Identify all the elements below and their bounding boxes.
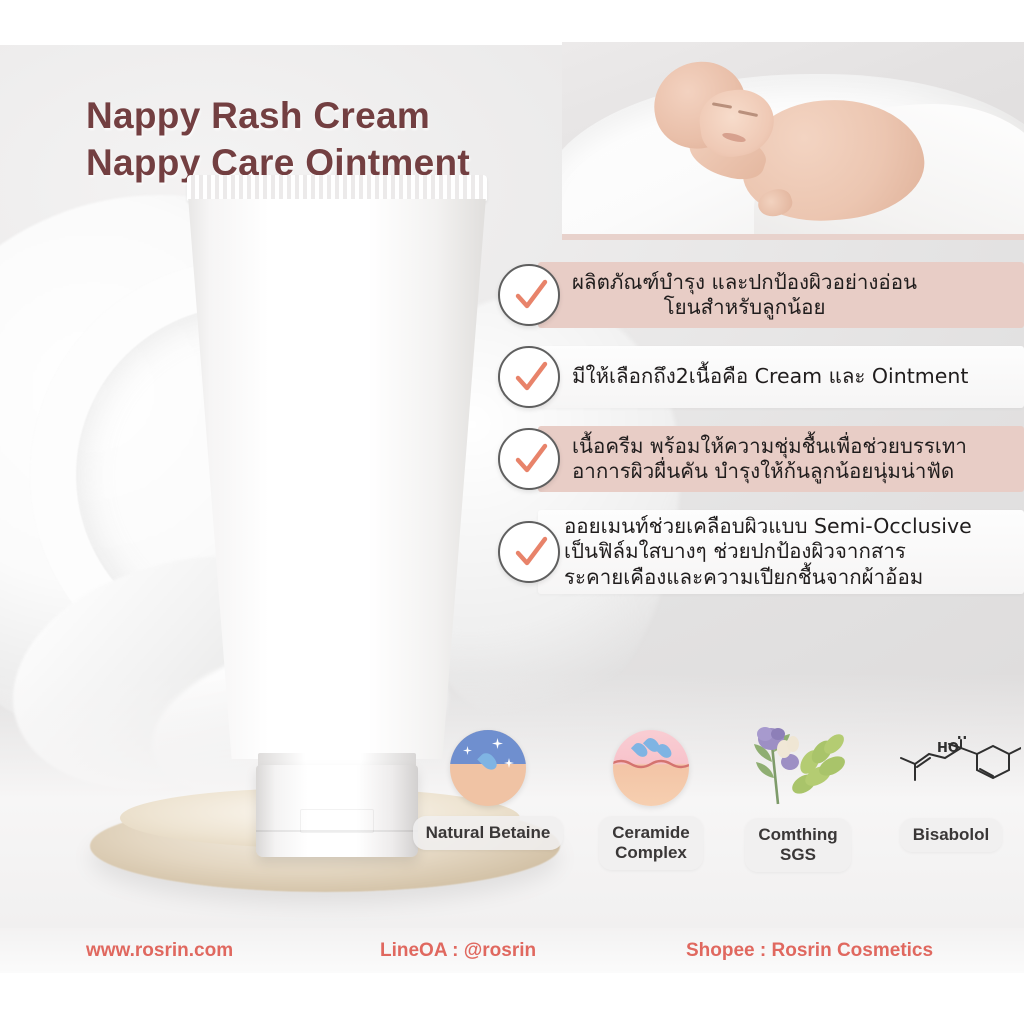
- feature-text: ออยเมนท์ช่วยเคลือบผิวแบบ Semi-Occlusive …: [564, 514, 972, 590]
- botanical-flower-leaf-icon: [738, 722, 858, 808]
- ingredient-label: Natural Betaine: [413, 816, 564, 850]
- shopee-store[interactable]: Shopee : Rosrin Cosmetics: [686, 940, 933, 962]
- feature-line: โยนสำหรับลูกน้อย: [572, 295, 917, 320]
- ceramide-droplets-icon: [613, 730, 689, 806]
- ingredient-item: Ceramide Complex: [576, 730, 726, 870]
- tube-cap-seam: [256, 830, 418, 832]
- ingredient-item: Natural Betaine: [400, 730, 576, 850]
- product-infographic: Nappy Rash Cream Nappy Care Ointment: [0, 0, 1024, 1024]
- ingredient-label: Ceramide Complex: [599, 816, 702, 870]
- check-icon: [498, 264, 560, 326]
- svg-text:HO: HO: [937, 741, 959, 756]
- baby-photo: [562, 42, 1024, 240]
- feature-line: ผลิตภัณฑ์บำรุง และปกป้องผิวอย่างอ่อน: [572, 270, 917, 295]
- feature-text: มีให้เลือกถึง2เนื้อคือ Cream และ Ointmen…: [572, 364, 968, 389]
- chemical-structure-icon: HO H: [881, 736, 1021, 808]
- feature-item: มีให้เลือกถึง2เนื้อคือ Cream และ Ointmen…: [498, 346, 1024, 408]
- feature-line: ระคายเคืองและความเปียกชื้นจากผ้าอ้อม: [564, 565, 972, 590]
- website-link[interactable]: www.rosrin.com: [86, 940, 233, 962]
- svg-text:H: H: [957, 736, 967, 742]
- footer-contact-bar: www.rosrin.com LineOA : @rosrin Shopee :…: [0, 928, 1024, 973]
- feature-item: ผลิตภัณฑ์บำรุง และปกป้องผิวอย่างอ่อน โยน…: [498, 262, 1024, 328]
- feature-list: ผลิตภัณฑ์บำรุง และปกป้องผิวอย่างอ่อน โยน…: [498, 262, 1024, 612]
- check-icon: [498, 521, 560, 583]
- ingredient-list: Natural Betaine Ceramide Complex: [400, 722, 1024, 897]
- feature-item: ออยเมนท์ช่วยเคลือบผิวแบบ Semi-Occlusive …: [498, 510, 1024, 594]
- tube-body: [182, 199, 492, 759]
- tube-crimp-seal: [187, 175, 487, 201]
- feature-line: ออยเมนท์ช่วยเคลือบผิวแบบ Semi-Occlusive: [564, 514, 972, 539]
- ingredient-label: Comthing SGS: [745, 818, 850, 872]
- feature-line: เป็นฟิล์มใสบางๆ ช่วยปกป้องผิวจากสาร: [564, 539, 972, 564]
- feature-text: ผลิตภัณฑ์บำรุง และปกป้องผิวอย่างอ่อน โยน…: [572, 270, 917, 321]
- feature-line: มีให้เลือกถึง2เนื้อคือ Cream และ Ointmen…: [572, 364, 968, 389]
- feature-line: อาการผิวผื่นคัน บำรุงให้ก้นลูกน้อยนุ่มน่…: [572, 459, 967, 484]
- ingredient-label: Bisabolol: [900, 818, 1003, 852]
- check-icon: [498, 428, 560, 490]
- ingredient-item: HO H Bisabolol: [878, 736, 1024, 852]
- skin-hydration-droplet-icon: [450, 730, 526, 806]
- ingredient-item: Comthing SGS: [718, 722, 878, 872]
- title-line-1: Nappy Rash Cream: [86, 92, 606, 139]
- tube-cap: [256, 765, 418, 857]
- check-icon: [498, 346, 560, 408]
- feature-item: เนื้อครีม พร้อมให้ความชุ่มชื้นเพื่อช่วยบ…: [498, 426, 1024, 492]
- feature-text: เนื้อครีม พร้อมให้ความชุ่มชื้นเพื่อช่วยบ…: [572, 434, 967, 485]
- feature-line: เนื้อครีม พร้อมให้ความชุ่มชื้นเพื่อช่วยบ…: [572, 434, 967, 459]
- page-title: Nappy Rash Cream Nappy Care Ointment: [86, 92, 606, 187]
- line-oa-handle[interactable]: LineOA : @rosrin: [380, 940, 536, 962]
